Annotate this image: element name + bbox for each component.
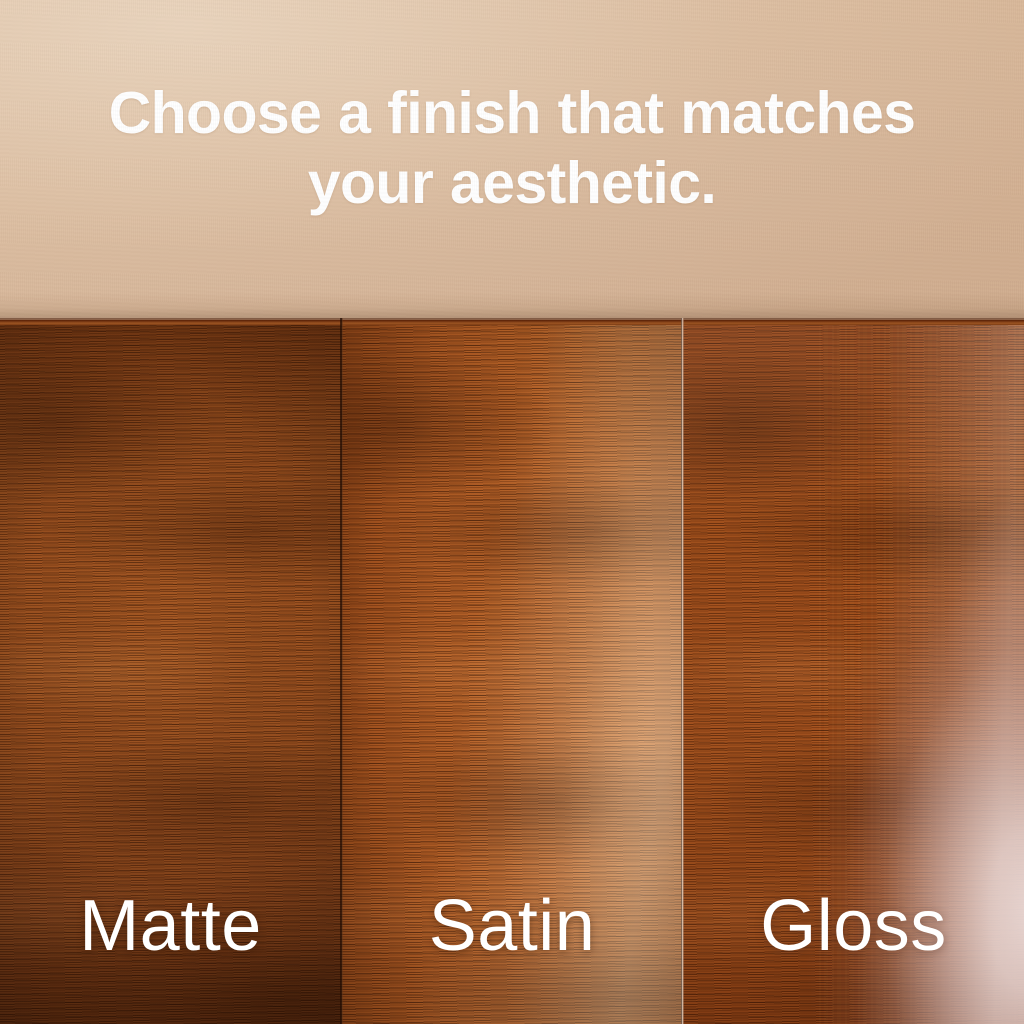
swatch-panel-gloss[interactable]: Gloss xyxy=(683,318,1024,1024)
swatch-panel-matte[interactable]: Matte xyxy=(0,318,341,1024)
finish-comparison-graphic: Choose a finish that matches your aesthe… xyxy=(0,0,1024,1024)
header-drop-shadow xyxy=(0,292,1024,318)
swatch-panel-satin[interactable]: Satin xyxy=(341,318,683,1024)
header-band: Choose a finish that matches your aesthe… xyxy=(0,0,1024,318)
swatch-label-matte: Matte xyxy=(0,890,341,962)
page-title: Choose a finish that matches your aesthe… xyxy=(0,78,1024,218)
swatch-label-satin: Satin xyxy=(341,890,683,962)
swatch-strip: Matte Satin Gloss xyxy=(0,318,1024,1024)
swatch-label-gloss: Gloss xyxy=(683,890,1024,962)
